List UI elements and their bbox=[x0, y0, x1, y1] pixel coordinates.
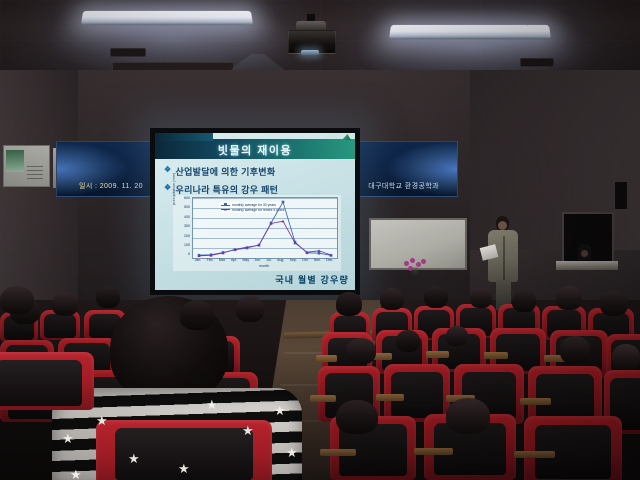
chart-y-tick: 400 bbox=[184, 216, 190, 220]
air-vent-3 bbox=[520, 58, 554, 67]
audience-member bbox=[556, 286, 582, 310]
flower-2 bbox=[410, 258, 415, 263]
star-motif-icon: ★ bbox=[242, 424, 254, 437]
audience-head bbox=[336, 400, 378, 434]
auditorium-seat[interactable] bbox=[524, 416, 622, 480]
seat-armrest bbox=[320, 449, 356, 456]
star-motif-icon: ★ bbox=[178, 462, 190, 475]
slide-logo: PAEC bbox=[327, 134, 351, 141]
audience-head bbox=[346, 338, 376, 364]
audience-member bbox=[470, 288, 492, 308]
chart-x-axis-label: month bbox=[192, 264, 336, 268]
chart-y-tick: 100 bbox=[184, 244, 190, 248]
audience-member bbox=[396, 330, 420, 352]
star-motif-icon: ★ bbox=[62, 432, 74, 445]
banner-date: 일시 : 2009. 11. 20 bbox=[79, 181, 143, 191]
seat-armrest bbox=[426, 351, 449, 358]
poster-text-lines bbox=[27, 166, 43, 180]
air-vent-1 bbox=[110, 48, 146, 57]
projection-screen: 빗물의 재이용 PAEC ❖ 산업발달에 의한 기후변화 ❖ 우리나라 특유의 … bbox=[150, 128, 360, 295]
flower-5 bbox=[408, 266, 413, 271]
chart-x-tick: Dec. bbox=[326, 258, 333, 262]
audience-member bbox=[52, 292, 78, 316]
flower-4 bbox=[421, 259, 426, 264]
chart-plot-area: monthly average for 30 yearsmonthly aver… bbox=[192, 197, 338, 259]
diamond-bullet-icon: ❖ bbox=[164, 183, 171, 193]
chart-series-layer bbox=[193, 198, 337, 258]
audience-head bbox=[396, 330, 420, 352]
chart-y-tick: 300 bbox=[184, 225, 190, 229]
star-motif-icon: ★ bbox=[128, 452, 140, 465]
chart-x-tick: Feb. bbox=[207, 258, 214, 262]
chart-y-tick: 0 bbox=[188, 253, 190, 257]
audience-member bbox=[236, 296, 264, 322]
chart-x-tick: Apr. bbox=[231, 258, 237, 262]
presenter-face bbox=[498, 221, 507, 230]
chart-x-tick: Nov. bbox=[314, 258, 321, 262]
chart-x-tick: Oct. bbox=[302, 258, 308, 262]
chart-x-tick: Sep. bbox=[290, 258, 297, 262]
leaf-icon bbox=[342, 134, 351, 140]
star-motif-icon: ★ bbox=[286, 446, 298, 459]
star-motif-icon: ★ bbox=[206, 398, 218, 411]
audience-member bbox=[96, 286, 120, 308]
chart-line-0 bbox=[199, 202, 331, 255]
audience-head bbox=[556, 286, 582, 310]
projector-lens-icon bbox=[301, 50, 319, 55]
booth-ledge bbox=[556, 261, 618, 270]
audience-head bbox=[446, 326, 468, 346]
audience-member bbox=[612, 344, 640, 370]
wall-speaker-icon bbox=[614, 181, 628, 210]
seat-armrest bbox=[316, 355, 337, 362]
rainfall-chart: precipitation (mm) 6005004003002001000 m… bbox=[173, 195, 341, 271]
audience-head bbox=[446, 398, 490, 434]
star-motif-icon: ★ bbox=[96, 414, 108, 427]
chart-x-tick: Jun. bbox=[254, 258, 261, 262]
chart-y-tick: 600 bbox=[184, 197, 190, 201]
chart-line-1 bbox=[199, 221, 331, 256]
seat-armrest bbox=[414, 448, 453, 455]
audience-member bbox=[0, 286, 34, 314]
poster-graphic bbox=[6, 150, 24, 172]
lecture-hall-photo: 대구대 대구 일시 : 2009. 11. 20 대구대학교 환경공학과 빗물의… bbox=[0, 0, 640, 480]
audience-head bbox=[96, 286, 120, 308]
audience-member bbox=[380, 288, 404, 310]
audience-member bbox=[336, 292, 362, 316]
flower-1 bbox=[404, 261, 409, 266]
slide-title: 빗물의 재이용 bbox=[155, 142, 355, 158]
slide-bullet-0: ❖ 산업발달에 의한 기후변화 bbox=[164, 165, 350, 178]
seat-armrest bbox=[310, 395, 336, 402]
audience-member bbox=[446, 398, 490, 434]
chart-marker bbox=[318, 252, 321, 255]
audience-head bbox=[470, 288, 492, 308]
chart-x-tick: Aug. bbox=[277, 258, 284, 262]
seat-armrest bbox=[514, 451, 555, 458]
audience-member bbox=[424, 286, 448, 308]
slide-caption: 국내 월별 강우량 bbox=[275, 273, 349, 286]
audience-head bbox=[612, 344, 640, 370]
audience-member bbox=[446, 326, 468, 346]
audience-head bbox=[512, 290, 536, 312]
audience-head bbox=[180, 300, 214, 330]
chart-y-tick: 500 bbox=[184, 206, 190, 210]
audience-head bbox=[236, 296, 264, 322]
audience-member bbox=[180, 300, 214, 330]
presentation-slide: 빗물의 재이용 PAEC ❖ 산업발달에 의한 기후변화 ❖ 우리나라 특유의 … bbox=[155, 133, 355, 290]
banner-organizer: 대구대학교 환경공학과 bbox=[368, 181, 439, 191]
presenter-coat-seam bbox=[503, 236, 505, 280]
fluorescent-light-left bbox=[81, 11, 253, 25]
chart-x-tick: Jul. bbox=[266, 258, 271, 262]
chart-y-ticks: 6005004003002001000 bbox=[177, 197, 190, 257]
audience-member bbox=[560, 336, 590, 364]
foreground-seat-left[interactable] bbox=[0, 352, 94, 410]
seat-armrest bbox=[376, 394, 404, 401]
slide-bullet-0-text: 산업발달에 의한 기후변화 bbox=[175, 165, 275, 178]
audience-head bbox=[560, 336, 590, 364]
seat-pad bbox=[0, 360, 82, 406]
chart-marker bbox=[282, 201, 285, 204]
diamond-bullet-icon: ❖ bbox=[164, 165, 171, 175]
audience-member bbox=[512, 290, 536, 312]
chart-x-tick: Jan. bbox=[195, 258, 202, 262]
seat-armrest bbox=[484, 352, 508, 359]
audience-member bbox=[336, 400, 378, 434]
audience-head bbox=[380, 288, 404, 310]
slide-logo-text: PAEC bbox=[327, 134, 340, 140]
seat-armrest bbox=[520, 398, 551, 405]
star-motif-icon: ★ bbox=[274, 404, 286, 417]
audience-member bbox=[600, 290, 628, 316]
seat-pad bbox=[44, 314, 75, 338]
audience-head bbox=[0, 286, 34, 314]
chart-x-tick: Mar. bbox=[219, 258, 226, 262]
booth-operator-face bbox=[581, 250, 588, 257]
chart-y-tick: 200 bbox=[184, 235, 190, 239]
audience-head bbox=[424, 286, 448, 308]
audience-head bbox=[336, 292, 362, 316]
fluorescent-light-right bbox=[389, 25, 551, 39]
flower-3 bbox=[416, 262, 421, 267]
audience-head bbox=[600, 290, 628, 316]
chart-x-tick: May bbox=[243, 258, 250, 262]
flower-arrangement bbox=[404, 258, 426, 272]
chart-y-axis-label: precipitation (mm) bbox=[172, 151, 176, 205]
audience-head bbox=[52, 292, 78, 316]
audience-member bbox=[346, 338, 376, 364]
chart-x-ticks: Jan.Feb.Mar.Apr.MayJun.Jul.Aug.Sep.Oct.N… bbox=[192, 258, 336, 262]
star-motif-icon: ★ bbox=[70, 468, 82, 480]
